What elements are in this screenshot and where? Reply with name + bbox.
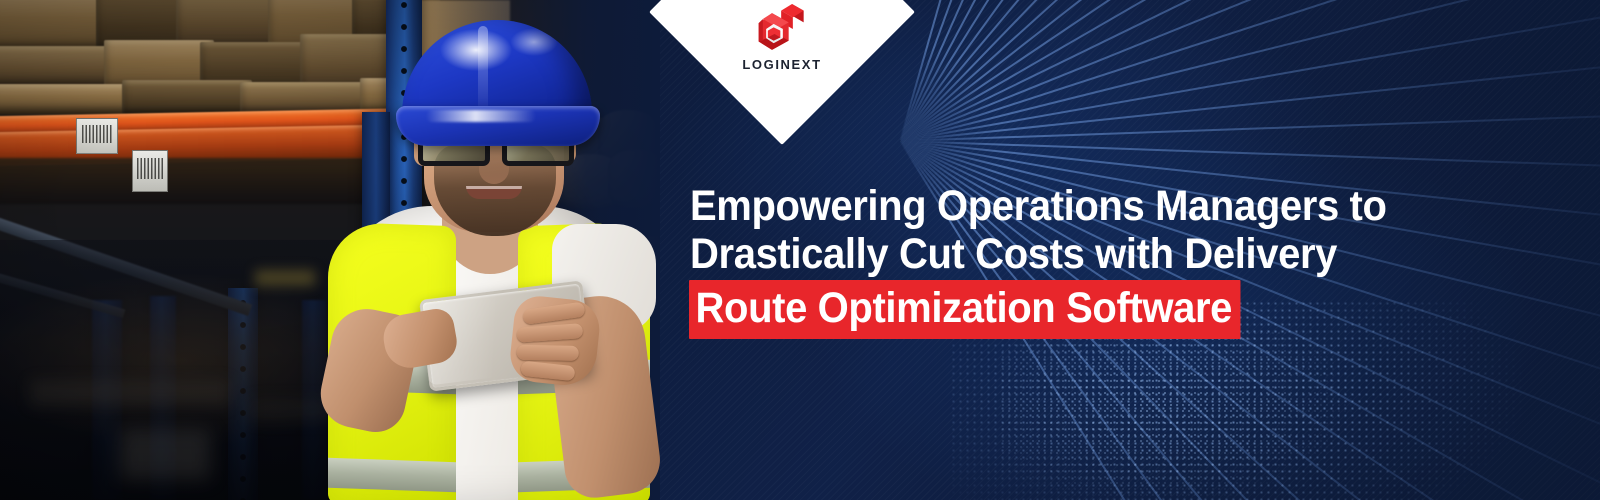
loginext-cube-logo-icon [755,4,809,54]
headline-line-1: Empowering Operations Managers to [690,182,1508,230]
headline-line-3-highlighted: Route Optimization Software [689,280,1240,339]
rack-label-tag [132,150,168,192]
hero-banner: LOGINEXT Empowering Operations Managers … [0,0,1600,500]
reflective-band [328,458,456,492]
headline-line-2: Drastically Cut Costs with Delivery [690,230,1508,278]
rack-label-tag [76,118,118,154]
warehouse-worker-figure [300,10,680,500]
headline-block: Empowering Operations Managers to Drasti… [690,182,1570,339]
brand-logo[interactable]: LOGINEXT [688,0,876,96]
brand-wordmark: LOGINEXT [742,57,821,72]
mouth [466,186,522,199]
